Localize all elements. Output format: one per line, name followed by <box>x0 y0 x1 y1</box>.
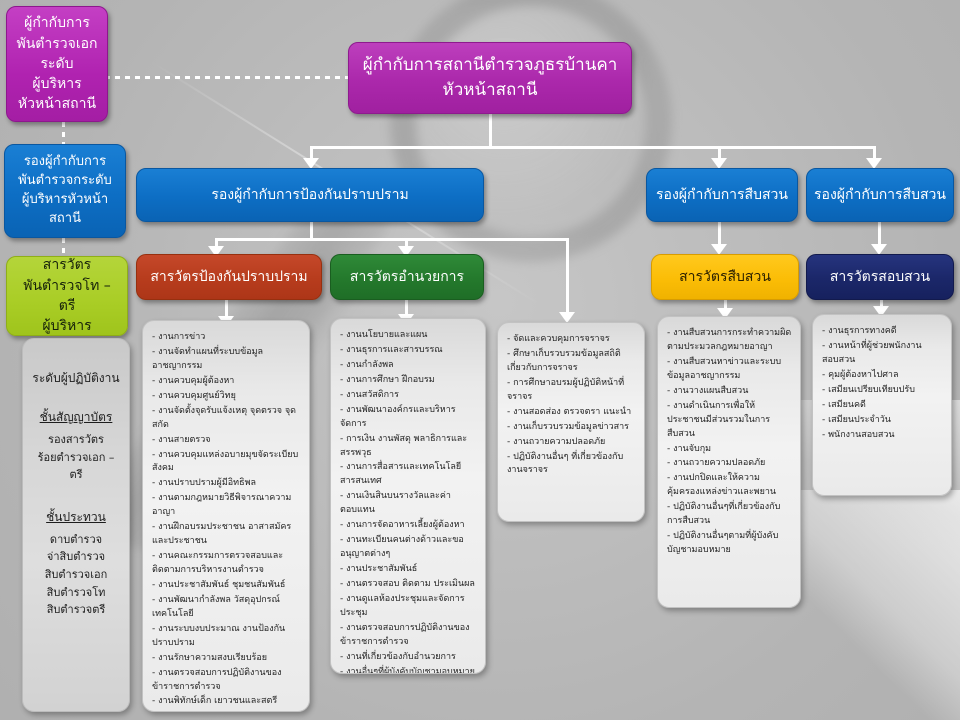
duty-item: - งานดำเนินการเพื่อให้ประชาชนมีส่วนรวมใน… <box>667 400 792 442</box>
connector-inv2-stem <box>878 222 881 246</box>
duty-item: - งานพัฒนากำลังพล วัสดุอุปกรณ์ เทคโนโลยี <box>152 594 301 622</box>
duty-item: - งานจับกุม <box>667 443 792 457</box>
node-deputy-prevention[interactable]: รองผู้กำกับการป้องกันปราบปราม <box>136 168 484 222</box>
operational-group2-line: สิบตำรวจตรี <box>31 601 121 619</box>
duty-item: - งานหน้าที่ผู้ช่วยพนักงานสอบสวน <box>822 340 943 368</box>
connector-level2-right-drop <box>566 238 569 316</box>
operational-group1-line: รองสารวัตร <box>31 431 121 449</box>
node-division-administration[interactable]: สารวัตรอำนวยการ <box>330 254 484 300</box>
duty-item: - พนักงานสอบสวน <box>822 429 943 443</box>
node-label: รองผู้กำกับการสืบสวน <box>813 185 947 205</box>
operational-group1-title: ชั้นสัญญาบัตร <box>31 408 121 427</box>
duty-item: - เสมียนเปรียบเทียบปรับ <box>822 384 943 398</box>
node-division-prevention[interactable]: สารวัตรป้องกันปราบปราม <box>136 254 322 300</box>
duties-list: - งานธุรการทางคดี - งานหน้าที่ผู้ช่วยพนั… <box>822 325 943 443</box>
duty-item: - งานตรวจสอบ ติดตาม ประเมินผล <box>340 578 477 592</box>
legend-box-superintendent[interactable]: ผู้กำกับการ พันตำรวจเอก ระดับ ผู้บริหาร … <box>6 6 108 122</box>
duty-item: - งานจัดทำแผนที่ระบบข้อมูลอาชญากรรม <box>152 346 301 374</box>
legend-line: ผู้กำกับการ <box>24 15 90 31</box>
connector-level2-bus <box>215 238 568 241</box>
node-label: สารวัตรอำนวยการ <box>337 267 477 287</box>
legend-box-inspector[interactable]: สารวัตร พันตำรวจโท – ตรี ผู้บริหาร <box>6 256 128 336</box>
connector-legend-1-2 <box>62 122 65 144</box>
duty-item: - งานการข่าว <box>152 331 301 345</box>
node-label: สารวัตรป้องกันปราบปราม <box>143 267 315 287</box>
duty-item: - งานประชาสัมพันธ์ ชุมชนสัมพันธ์ <box>152 579 301 593</box>
org-chart-canvas: ผู้กำกับการ พันตำรวจเอก ระดับ ผู้บริหาร … <box>0 0 960 720</box>
duty-item: - งานการสื่อสารและเทคโนโลยีสารสนเทศ <box>340 461 477 489</box>
node-deputy-investigation-1[interactable]: รองผู้กำกับการสืบสวน <box>646 168 798 222</box>
duty-item: - งานถวายความปลอดภัย <box>507 436 636 450</box>
duty-item: - เสมียนคดี <box>822 399 943 413</box>
duty-item: - ปฏิบัติงานอื่นๆ ที่เกี่ยวข้องกับงานจรา… <box>507 451 636 479</box>
panel-duties-traffic[interactable]: - จัดและควบคุมการจราจร - ศึกษาเก็บรวบรวม… <box>497 322 645 522</box>
duty-item: - งานตรวจสอบการปฏิบัติงานของข้าราชการตำร… <box>152 667 301 695</box>
chart-title-line2: หัวหน้าสถานี <box>443 80 538 100</box>
duty-item: - งานสืบสวนการกระทำความผิดตามประมวลกฎหมา… <box>667 327 792 355</box>
duty-item: - งานดูแลห้องประชุมและจัดการประชุม <box>340 593 477 621</box>
duty-item: - การเงิน งานพัสดุ พลาธิการและสรรพวุธ <box>340 433 477 461</box>
duty-item: - งานฝึกอบรมประชาชน อาสาสมัครและประชาชน <box>152 521 301 549</box>
operational-group2-line: ดาบตำรวจ <box>31 531 121 549</box>
legend-line: หัวหน้าสถานี <box>18 96 96 112</box>
duty-item: - งานกำลังพล <box>340 359 477 373</box>
duty-item: - งานที่เกี่ยวข้องกับอำนวยการ <box>340 651 477 665</box>
duty-item: - จัดและควบคุมการจราจร <box>507 333 636 347</box>
duty-item: - งานระบบงบประมาณ งานป้องกันปราบปราม <box>152 623 301 651</box>
connector-title-stem <box>489 114 492 148</box>
node-label: สารวัตรสืบสวน <box>658 267 792 287</box>
connector-inv1-stem <box>718 222 721 246</box>
duty-item: - ปฏิบัติงานอื่นๆที่เกี่ยวข้องกับการสืบส… <box>667 501 792 529</box>
legend-line: ผู้บริหาร <box>42 318 91 334</box>
legend-line: พันตำรวจเอก <box>16 36 97 52</box>
duty-item: - งานควบคุมผู้ต้องหา <box>152 375 301 389</box>
duty-item: - งานอื่นๆที่ผู้บังคับบัญชามอบหมาย <box>340 666 477 674</box>
duty-item: - งานเก็บรวบรวมข้อมูลข่าวสาร <box>507 421 636 435</box>
panel-duties-administration[interactable]: - งานนโยบายและแผน - งานธุรการและสารบรรณ … <box>330 318 486 674</box>
node-division-investigation[interactable]: สารวัตรสืบสวน <box>651 254 799 300</box>
duties-list: - งานสืบสวนการกระทำความผิดตามประมวลกฎหมา… <box>667 327 792 558</box>
legend-line: ผู้บริหารหัวหน้า <box>22 192 108 207</box>
duty-item: - งานรักษาความสงบเรียบร้อย <box>152 652 301 666</box>
duty-item: - เสมียนประจำวัน <box>822 414 943 428</box>
duty-item: - คุมผู้ต้องหาไปศาล <box>822 369 943 383</box>
connector-legend-to-title <box>105 76 348 79</box>
node-deputy-investigation-2[interactable]: รองผู้กำกับการสืบสวน <box>806 168 954 222</box>
operational-heading: ระดับผู้ปฏิบัติงาน <box>31 369 121 388</box>
duty-item: - งานเงินสินบนรางวัลและค่าตอบแทน <box>340 490 477 518</box>
duties-list: - จัดและควบคุมการจราจร - ศึกษาเก็บรวบรวม… <box>507 333 636 478</box>
duty-item: - งานจัดตั้งจุดรับแจ้งเหตุ จุดตรวจ จุดสก… <box>152 405 301 433</box>
legend-line: ผู้บริหาร <box>32 76 81 92</box>
legend-line: พันตำรวจกระดับ <box>18 173 112 188</box>
duty-item: - งานสอดส่อง ตรวจตรา แนะนำ <box>507 406 636 420</box>
duties-list: - งานการข่าว - งานจัดทำแผนที่ระบบข้อมูลอ… <box>152 331 301 712</box>
connector-legend-2-3 <box>62 238 65 256</box>
duty-item: - ปฏิบัติงานอื่นๆตามที่ผู้บังคับบัญชามอบ… <box>667 530 792 558</box>
operational-group2-line: สิบตำรวจเอก <box>31 566 121 584</box>
duty-item: - งานสวัสดิการ <box>340 389 477 403</box>
duty-item: - งานธุรการและสารบรรณ <box>340 344 477 358</box>
duty-item: - งานถวายความปลอดภัย <box>152 710 301 712</box>
operational-group1-line: ร้อยตำรวจเอก – ตรี <box>31 449 121 484</box>
spacer <box>31 484 121 498</box>
duty-item: - งานประชาสัมพันธ์ <box>340 563 477 577</box>
magnifier-lens-icon <box>390 0 672 262</box>
panel-duties-investigation[interactable]: - งานสืบสวนการกระทำความผิดตามประมวลกฎหมา… <box>657 316 801 608</box>
duty-item: - งานตรวจสอบการปฏิบัติงานของข้าราชการตำร… <box>340 622 477 650</box>
panel-duties-prevention[interactable]: - งานการข่าว - งานจัดทำแผนที่ระบบข้อมูลอ… <box>142 320 310 712</box>
chart-title-line1: ผู้กำกับการสถานีตำรวจภูธรบ้านคา <box>363 55 618 75</box>
duty-item: - งานถวายความปลอดภัย <box>667 457 792 471</box>
duty-item: - งานพิทักษ์เด็ก เยาวชนและสตรี <box>152 695 301 709</box>
duty-item: - งานสืบสวนหาข่าวและระบบข้อมูลอาชญากรรม <box>667 356 792 384</box>
duty-item: - งานสายตรวจ <box>152 434 301 448</box>
duty-item: - งานปกปิดและให้ความคุ้มครองแหล่งข่าวและ… <box>667 472 792 500</box>
node-label: รองผู้กำกับการสืบสวน <box>653 185 791 205</box>
duty-item: - งานควบคุมแหล่งอบายมุขจัดระเบียบสังคม <box>152 449 301 477</box>
duty-item: - การศึกษาอบรมผู้ปฏิบัติหน้าที่จราจร <box>507 377 636 405</box>
duty-item: - งานการจัดอาหารเลี้ยงผู้ต้องหา <box>340 519 477 533</box>
duty-item: - งานธุรการทางคดี <box>822 325 943 339</box>
legend-line: ระดับ <box>40 56 73 72</box>
duty-item: - งานตามกฎหมายวิธีพิจารณาความอาญา <box>152 492 301 520</box>
duty-item: - งานวางแผนสืบสวน <box>667 385 792 399</box>
legend-box-deputy[interactable]: รองผู้กำกับการ พันตำรวจกระดับ ผู้บริหารห… <box>4 144 126 238</box>
legend-line: สถานี <box>49 211 81 226</box>
duty-item: - งานปราบปรามผู้มีอิทธิพล <box>152 477 301 491</box>
node-label: รองผู้กำกับการป้องกันปราบปราม <box>143 185 477 205</box>
duties-list: - งานนโยบายและแผน - งานธุรการและสารบรรณ … <box>340 329 477 674</box>
duty-item: - งานพัฒนาองค์กรและบริหารจัดการ <box>340 404 477 432</box>
legend-line: สารวัตร <box>43 257 91 273</box>
duty-item: - ศึกษาเก็บรวบรวมข้อมูลสถิติเกี่ยวกับการ… <box>507 348 636 376</box>
duty-item: - งานการศึกษา ฝึกอบรม <box>340 374 477 388</box>
node-division-interrogation[interactable]: สารวัตรสอบสวน <box>806 254 954 300</box>
operational-group2-title: ชั้นประทวน <box>31 508 121 527</box>
duty-item: - งานคณะกรรมการตรวจสอบและติดตามการบริหาร… <box>152 550 301 578</box>
duty-item: - งานควบคุมศูนย์วิทยุ <box>152 390 301 404</box>
duty-item: - งานทะเบียนคนต่างด้าวและขออนุญาตต่างๆ <box>340 534 477 562</box>
operational-group2-line: สิบตำรวจโท <box>31 584 121 602</box>
legend-line: พันตำรวจโท – ตรี <box>23 278 111 314</box>
duty-item: - งานนโยบายและแผน <box>340 329 477 343</box>
operational-rank-panel[interactable]: ระดับผู้ปฏิบัติงาน ชั้นสัญญาบัตร รองสารว… <box>22 338 130 712</box>
legend-line: รองผู้กำกับการ <box>24 154 106 169</box>
node-label: สารวัตรสอบสวน <box>813 267 947 287</box>
connector-level1-bus <box>310 146 876 149</box>
operational-group2-line: จ่าสิบตำรวจ <box>31 548 121 566</box>
panel-duties-interrogation[interactable]: - งานธุรการทางคดี - งานหน้าที่ผู้ช่วยพนั… <box>812 314 952 496</box>
chart-title-box[interactable]: ผู้กำกับการสถานีตำรวจภูธรบ้านคา หัวหน้าส… <box>348 42 632 114</box>
